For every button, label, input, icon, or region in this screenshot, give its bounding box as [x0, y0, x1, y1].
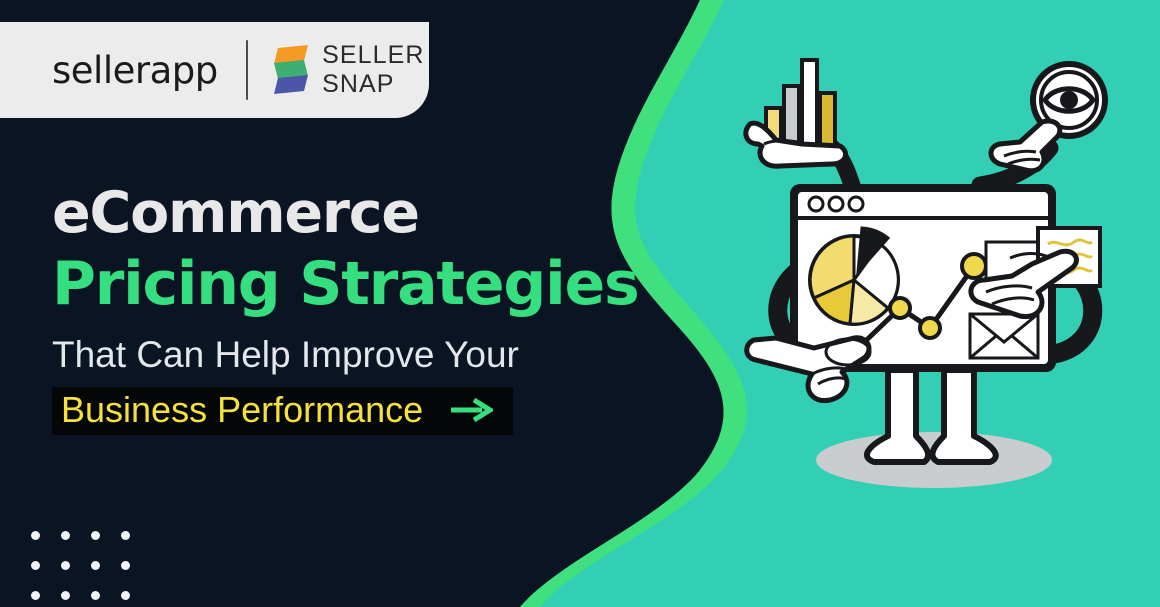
banner-root: sellerapp SELLER SNAP eCommerce Pricing …	[0, 0, 1160, 607]
sellerapp-wordmark: sellerapp	[52, 49, 218, 92]
arrow-right-icon	[449, 396, 493, 424]
window-dot	[809, 197, 823, 211]
grid-dot	[61, 591, 70, 600]
headline-line-2: Pricing Strategies	[52, 251, 639, 318]
legs-and-shoes	[867, 370, 996, 462]
line-chart-node	[920, 318, 940, 338]
envelope-icon	[970, 314, 1038, 358]
headline-line-1: eCommerce	[52, 183, 639, 245]
grid-dot	[31, 591, 40, 600]
grid-dot	[61, 531, 70, 540]
grid-dot	[31, 561, 40, 570]
grid-dot	[121, 531, 130, 540]
headline-block: eCommerce Pricing Strategies That Can He…	[52, 183, 639, 435]
seller-snap-logo-mark-icon	[274, 44, 308, 96]
grid-dot	[121, 591, 130, 600]
headline-line-3: That Can Help Improve Your	[52, 334, 639, 376]
grid-dot	[91, 561, 100, 570]
cta-highlight-bar[interactable]: Business Performance	[52, 387, 513, 435]
grid-dot	[91, 591, 100, 600]
right-hand-grip	[991, 121, 1060, 171]
grid-dot	[91, 531, 100, 540]
window-dot	[849, 197, 863, 211]
logo-bar: sellerapp SELLER SNAP	[0, 22, 429, 118]
analytics-character-illustration	[742, 52, 1132, 492]
grid-dot	[61, 561, 70, 570]
line-chart-node	[890, 298, 910, 318]
grid-dot	[121, 561, 130, 570]
seller-snap-name: SELLER SNAP	[322, 41, 429, 99]
logo-divider	[246, 40, 248, 100]
decorative-dot-grid	[31, 531, 151, 607]
line-chart-node	[962, 254, 986, 278]
grid-dot	[31, 531, 40, 540]
window-dot	[829, 197, 843, 211]
cta-label: Business Performance	[61, 389, 423, 431]
bar-chart-in-hand	[766, 60, 835, 148]
